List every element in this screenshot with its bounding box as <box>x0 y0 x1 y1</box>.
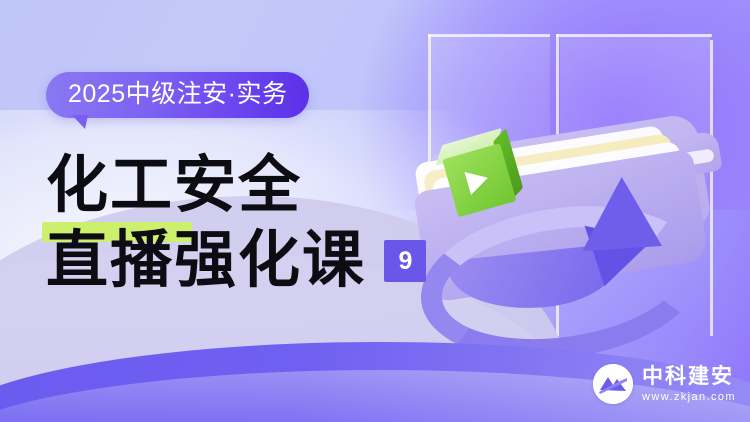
title-line-1-row: 化工安全 <box>46 118 466 221</box>
brand-logo-text: 中科建安 www.zkjan.com <box>642 366 736 403</box>
page-title-line-2: 直播强化课 <box>46 223 366 296</box>
zkjan-mountain-logo-icon <box>593 364 633 404</box>
episode-number-badge: 9 <box>384 240 426 282</box>
title-line-2-row: 直播强化课 9 <box>46 221 466 296</box>
course-promo-banner: 2025中级注安·实务 化工安全 直播强化课 9 中科建安 <box>0 0 750 422</box>
brand-url: www.zkjan.com <box>642 392 736 403</box>
title-text-line-2: 直播强化课 <box>46 223 366 296</box>
brand-logo: 中科建安 www.zkjan.com <box>593 364 736 404</box>
brand-name: 中科建安 <box>642 366 736 387</box>
title-text-line-1: 化工安全 <box>46 148 302 221</box>
page-title-line-1: 化工安全 <box>46 148 302 221</box>
course-kicker-badge: 2025中级注安·实务 <box>46 72 309 118</box>
headline-block: 2025中级注安·实务 化工安全 直播强化课 9 <box>46 72 466 296</box>
course-kicker-text: 2025中级注安·实务 <box>68 80 287 108</box>
